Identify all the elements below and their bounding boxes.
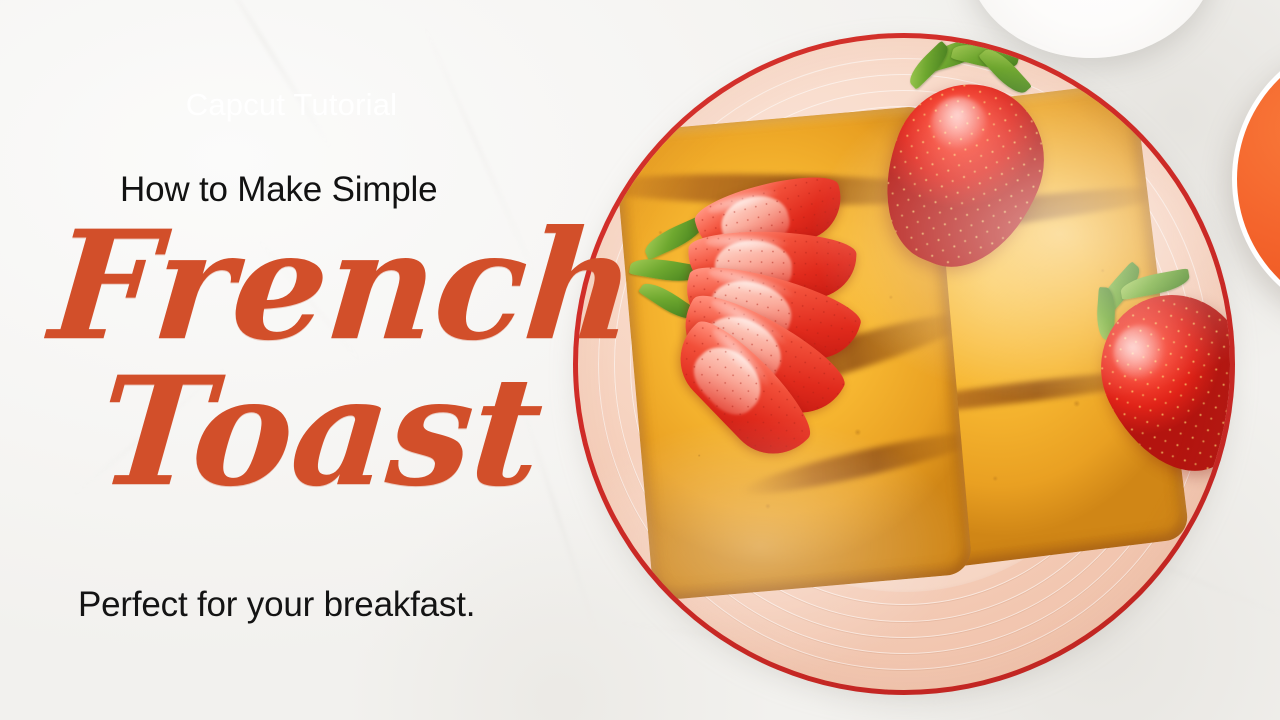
title-word-french: French <box>46 222 639 351</box>
plate <box>573 33 1235 695</box>
capcut-tutorial-badge: Capcut Tutorial <box>138 74 445 136</box>
plate-body <box>578 38 1230 690</box>
title-word-toast: Toast <box>94 368 546 497</box>
plate-highlight <box>578 38 1230 690</box>
thumbnail-canvas: Capcut Tutorial How to Make Simple Frenc… <box>0 0 1280 720</box>
tagline: Perfect for your breakfast. <box>78 585 475 625</box>
